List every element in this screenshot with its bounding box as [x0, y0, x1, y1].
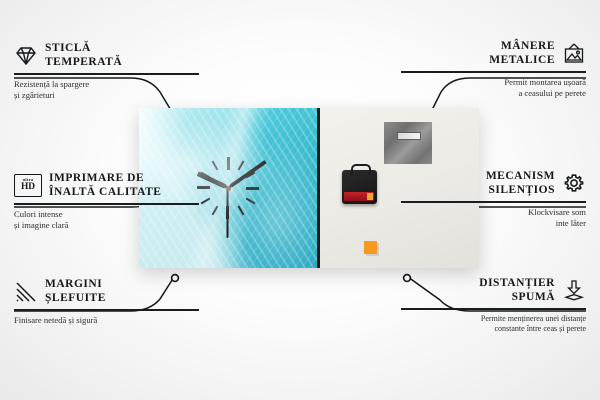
callout-title-line1: STICLĂ	[45, 42, 122, 56]
down-arrow-stack-icon	[562, 279, 586, 303]
callout-rule	[14, 203, 199, 204]
callout-title-line1: MARGINI	[45, 278, 106, 292]
callout-desc-line1: Permite menținerea unei distanțe	[401, 314, 586, 324]
callout-desc-line2: constante între ceas și perete	[401, 324, 586, 334]
callout-title-line2: SILENȚIOS	[486, 184, 555, 198]
callout-desc-line1: Finisare netedă și sigură	[14, 315, 199, 326]
hanger-slot	[397, 132, 421, 140]
ultra-hd-icon: ultra HD	[14, 174, 42, 197]
callout-desc-line1: Permit montarea ușoară	[401, 77, 586, 88]
callout-title-line2: TEMPERATĂ	[45, 56, 122, 70]
ultra-hd-large-text: HD	[21, 183, 35, 192]
callout-desc-line1: Klockvisare som	[401, 207, 586, 218]
diamond-icon	[14, 44, 38, 68]
gear-icon	[562, 172, 586, 196]
callout-manere-metalice: MÂNERE METALICE Permit montarea ușoară a…	[401, 40, 586, 99]
foam-spacer	[364, 241, 377, 254]
clock-hour-hand	[196, 171, 229, 190]
quartz-movement	[342, 170, 377, 204]
clock-pivot	[226, 186, 231, 191]
diagonal-stripes-icon	[14, 280, 38, 304]
callout-title-line1: MÂNERE	[489, 40, 555, 54]
callout-title-line1: DISTANȚIER	[479, 277, 555, 291]
callout-desc-line2: a ceasului pe perete	[401, 88, 586, 99]
infographic-stage: STICLĂ TEMPERATĂ Rezistență la spargere …	[0, 0, 600, 400]
callout-imprimare-inalta-calitate: ultra HD IMPRIMARE DE ÎNALTĂ CALITATE Cu…	[14, 172, 199, 231]
callout-title-line2: ȘLEFUITE	[45, 292, 106, 306]
callout-rule	[401, 308, 586, 309]
clock-minute-hand	[227, 160, 267, 190]
callout-title-line2: ÎNALTĂ CALITATE	[49, 186, 161, 200]
callout-title-line2: SPUMĂ	[479, 291, 555, 305]
callout-desc-line1: Rezistență la spargere	[14, 79, 199, 90]
battery	[344, 192, 374, 201]
callout-title-line2: METALICE	[489, 54, 555, 68]
movement-hanger-loop	[351, 164, 371, 175]
callout-desc-line1: Culori intense	[14, 209, 199, 220]
callout-rule	[401, 201, 586, 202]
callout-desc-line2: și zgârieturi	[14, 90, 199, 101]
callout-distantier-spuma: DISTANȚIER SPUMĂ Permite menținerea unei…	[401, 277, 586, 334]
callout-desc-line2: inte låter	[401, 218, 586, 229]
hanging-frame-icon	[562, 42, 586, 66]
callout-desc-line2: și imagine clară	[14, 220, 199, 231]
callout-mecanism-silentios: MECANISM SILENȚIOS Klockvisare som inte …	[401, 170, 586, 229]
callout-sticla-temperata: STICLĂ TEMPERATĂ Rezistență la spargere …	[14, 42, 199, 101]
callout-rule	[14, 73, 199, 74]
clock-second-hand	[227, 188, 229, 238]
callout-title-line1: MECANISM	[486, 170, 555, 184]
metal-hanger-bracket	[384, 122, 432, 164]
callout-margini-slefuite: MARGINI ȘLEFUITE Finisare netedă și sigu…	[14, 278, 199, 326]
callout-rule	[14, 309, 199, 310]
callout-title-line1: IMPRIMARE DE	[49, 172, 161, 186]
callout-rule	[401, 71, 586, 72]
